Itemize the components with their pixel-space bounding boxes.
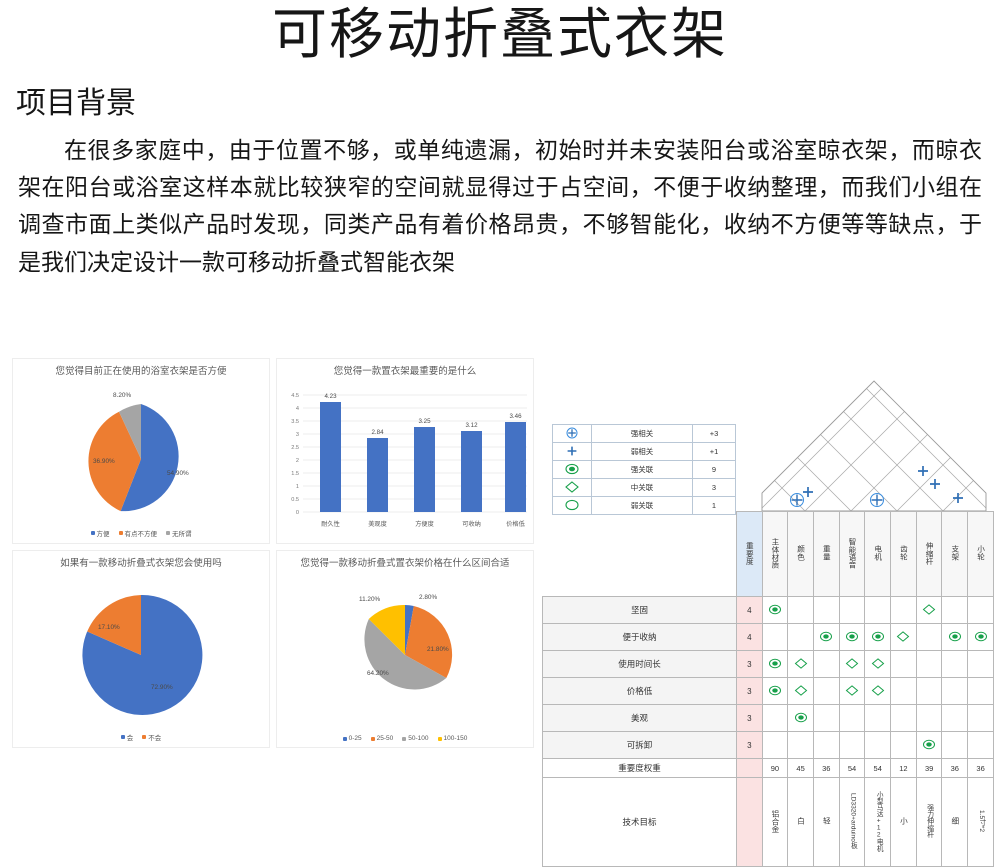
qfd-legend-table: 强相关 +3 弱相关 +1 强关联 9 中关联 3 — [552, 424, 736, 515]
qfd-weight-spacer — [737, 759, 763, 778]
qfd-cell — [762, 597, 788, 624]
bar-value: 3.25 — [418, 418, 431, 425]
qfd-cell — [968, 732, 994, 759]
target-label: 白 — [797, 817, 805, 825]
legend-label: 50-100 — [408, 735, 428, 742]
legend-label: 25-50 — [377, 735, 394, 742]
qfd-cell — [968, 705, 994, 732]
qfd-weight: 12 — [891, 759, 917, 778]
bar — [320, 402, 341, 512]
qfd-cell — [942, 705, 968, 732]
legend-row: 弱相关 +1 — [553, 443, 736, 461]
qfd-target: 轻 — [813, 778, 839, 867]
qfd-row-importance: 4 — [737, 624, 763, 651]
roof-mark-plus — [953, 493, 963, 503]
x-tick: 美观度 — [368, 520, 387, 528]
qfd-row-label: 可拆卸 — [543, 732, 737, 759]
y-tick: 1.5 — [291, 471, 299, 477]
y-tick: 4.5 — [291, 393, 299, 399]
table-row: 使用时间长 3 — [543, 651, 994, 678]
qfd-cell — [942, 624, 968, 651]
qfd-row-label: 美观 — [543, 705, 737, 732]
qfd-cell — [865, 732, 891, 759]
target-label: 小 — [899, 817, 907, 825]
qfd-cell — [813, 705, 839, 732]
page-title: 可移动折叠式衣架 — [0, 6, 1000, 64]
y-tick: 1 — [296, 484, 299, 490]
qfd-cell — [788, 624, 814, 651]
target-label: 轻 — [822, 817, 830, 825]
qfd-weight: 36 — [968, 759, 994, 778]
qfd-cell — [968, 678, 994, 705]
qfd-target: 小型马达+12电机 — [865, 778, 891, 867]
pie-label: 54.90% — [167, 470, 189, 477]
qfd-cell — [968, 624, 994, 651]
roof-mark-plus — [918, 466, 928, 476]
pie-label: 36.90% — [93, 458, 115, 465]
chart-title: 您觉得一款移动折叠式置衣架价格在什么区间合适 — [277, 551, 533, 571]
qfd-cell — [788, 732, 814, 759]
bar-value: 2.84 — [371, 429, 384, 436]
qfd-cell — [813, 651, 839, 678]
legend-label: 无所谓 — [172, 528, 192, 538]
pie-chart-4: 2.80% 21.80% 64.20% 11.20% — [277, 589, 533, 727]
qfd-col-header: 智能语音 — [839, 512, 865, 597]
qfd-cell — [891, 732, 917, 759]
qfd-row-importance: 3 — [737, 651, 763, 678]
qfd-row-label: 使用时间长 — [543, 651, 737, 678]
qfd-target: 小 — [891, 778, 917, 867]
qfd-row-label: 重要度权重 — [543, 759, 737, 778]
qfd-col-importance: 重要度 — [737, 512, 763, 597]
bar-value: 3.12 — [465, 422, 478, 429]
chart-title: 如果有一款移动折叠式衣架您会使用吗 — [13, 551, 269, 571]
bar — [505, 422, 526, 512]
legend-value: 9 — [693, 461, 736, 479]
qfd-row-importance: 3 — [737, 732, 763, 759]
qfd-cell — [865, 597, 891, 624]
qfd-cell — [865, 678, 891, 705]
qfd-header-row: 重要度 主体材质 颜色 重量 智能语音 电机 齿轮 伸缩杆 支架 小轮 — [543, 512, 994, 597]
y-tick: 0.5 — [291, 497, 299, 503]
qfd-col-header: 主体材质 — [762, 512, 788, 597]
qfd-cell — [762, 651, 788, 678]
col-label: 齿轮 — [899, 545, 907, 560]
target-label: LD3320+arduino板 — [849, 793, 856, 849]
qfd-row-importance: 3 — [737, 705, 763, 732]
legend-label: 强关联 — [592, 461, 693, 479]
table-row: 价格低 3 — [543, 678, 994, 705]
background-paragraph: 在很多家庭中，由于位置不够，或单纯遗漏，初始时并未安装阳台或浴室晾衣架，而晾衣架… — [18, 132, 982, 281]
chart-legend: 0-25 25-50 50-100 100-150 — [277, 735, 533, 742]
col-label: 小轮 — [977, 545, 985, 560]
legend-label: 不会 — [148, 732, 161, 742]
roof-mark-plus — [803, 487, 813, 497]
qfd-cell — [916, 732, 942, 759]
x-tick: 价格低 — [506, 520, 525, 528]
legend-value: +3 — [693, 425, 736, 443]
pie-label: 8.20% — [113, 392, 131, 399]
y-tick: 2.5 — [291, 445, 299, 451]
qfd-weight: 39 — [916, 759, 942, 778]
table-row: 便于收纳 4 — [543, 624, 994, 651]
qfd-cell — [839, 678, 865, 705]
qfd-target-row: 技术目标 铝合金 白 轻 LD3320+arduino板 小型马达+12电机 小… — [543, 778, 994, 867]
legend-label: 会 — [127, 732, 134, 742]
table-row: 可拆卸 3 — [543, 732, 994, 759]
qfd-cell — [813, 732, 839, 759]
filled-circle-icon — [553, 461, 592, 479]
roof-mark-circle-plus — [791, 494, 804, 507]
chart-title: 您觉得一款置衣架最重要的是什么 — [277, 359, 533, 379]
qfd-target: LD3320+arduino板 — [839, 778, 865, 867]
qfd-cell — [788, 597, 814, 624]
qfd-cell — [916, 624, 942, 651]
y-tick: 4 — [296, 406, 299, 412]
y-tick: 0 — [296, 510, 299, 516]
qfd-weight: 54 — [839, 759, 865, 778]
qfd-cell — [839, 597, 865, 624]
chart-title: 您觉得目前正在使用的浴室衣架是否方便 — [13, 359, 269, 379]
target-label: 1.5寸*2 — [977, 810, 984, 832]
qfd-col-header: 齿轮 — [891, 512, 917, 597]
x-tick: 耐久性 — [321, 520, 340, 528]
pie-label: 72.90% — [151, 684, 173, 691]
qfd-cell — [865, 624, 891, 651]
qfd-row-label: 便于收纳 — [543, 624, 737, 651]
bar-chart: 4.5 4 3.5 3 2.5 2 1.5 1 0.5 0 4.23 2.84 … — [277, 383, 529, 539]
chart-legend: 方便 有点不方便 无所谓 — [13, 528, 269, 538]
qfd-cell — [891, 624, 917, 651]
qfd-cell — [839, 705, 865, 732]
qfd-col-header: 伸缩杆 — [916, 512, 942, 597]
pie-chart-3: 72.90% 17.10% — [13, 577, 269, 727]
col-label: 智能语音 — [848, 538, 856, 568]
qfd-cell — [839, 732, 865, 759]
qfd-weight-row: 重要度权重 90 45 36 54 54 12 39 36 36 — [543, 759, 994, 778]
qfd-cell — [762, 705, 788, 732]
bar — [367, 438, 388, 512]
qfd-cell — [813, 624, 839, 651]
qfd-target-spacer — [737, 778, 763, 867]
qfd-cell — [968, 597, 994, 624]
qfd-cell — [916, 597, 942, 624]
qfd-row-importance: 4 — [737, 597, 763, 624]
table-row: 坚固 4 — [543, 597, 994, 624]
qfd-cell — [891, 705, 917, 732]
qfd-roof — [759, 378, 989, 517]
qfd-matrix: 重要度 主体材质 颜色 重量 智能语音 电机 齿轮 伸缩杆 支架 小轮 坚固 4 — [542, 511, 994, 867]
qfd-weight: 45 — [788, 759, 814, 778]
pie-chart-1: 54.90% 36.90% 8.20% — [13, 385, 269, 523]
qfd-col-header: 重量 — [813, 512, 839, 597]
qfd-weight: 90 — [762, 759, 788, 778]
legend-label: 弱相关 — [592, 443, 693, 461]
qfd-house-of-quality: 强相关 +3 弱相关 +1 强关联 9 中关联 3 — [538, 378, 994, 750]
legend-row: 强关联 9 — [553, 461, 736, 479]
legend-value: 3 — [693, 479, 736, 497]
qfd-cell — [762, 624, 788, 651]
legend-label: 方便 — [97, 528, 110, 538]
legend-label: 0-25 — [349, 735, 362, 742]
legend-row: 中关联 3 — [553, 479, 736, 497]
qfd-col-header: 电机 — [865, 512, 891, 597]
legend-label: 有点不方便 — [125, 528, 158, 538]
qfd-row-label: 坚固 — [543, 597, 737, 624]
pie-label: 11.20% — [359, 596, 381, 603]
qfd-cell — [762, 678, 788, 705]
pie-label: 2.80% — [419, 594, 437, 601]
qfd-cell — [813, 597, 839, 624]
col-label: 主体材质 — [771, 538, 779, 568]
qfd-cell — [942, 678, 968, 705]
qfd-col-header: 支架 — [942, 512, 968, 597]
target-label: 强力伸缩杆 — [926, 804, 933, 838]
chart-card-would-you-use: 如果有一款移动折叠式衣架您会使用吗 72.90% 17.10% 会 不会 — [12, 550, 270, 748]
qfd-cell — [891, 651, 917, 678]
plus-icon — [553, 443, 592, 461]
spacer — [543, 512, 737, 597]
qfd-cell — [788, 651, 814, 678]
target-label: 铝合金 — [771, 810, 779, 833]
chart-card-price-range: 您觉得一款移动折叠式置衣架价格在什么区间合适 2.80% 21.80% 64.2… — [276, 550, 534, 748]
qfd-col-header: 小轮 — [968, 512, 994, 597]
chart-card-most-important: 您觉得一款置衣架最重要的是什么 4.5 4 — [276, 358, 534, 544]
legend-label: 100-150 — [444, 735, 468, 742]
qfd-cell — [788, 705, 814, 732]
qfd-weight: 36 — [813, 759, 839, 778]
y-tick: 3 — [296, 432, 299, 438]
target-label: 细 — [951, 817, 959, 825]
qfd-cell — [916, 651, 942, 678]
col-label: 重量 — [822, 545, 830, 560]
col-label: 支架 — [951, 545, 959, 560]
qfd-cell — [968, 651, 994, 678]
x-tick: 可收纳 — [462, 520, 481, 528]
qfd-cell — [891, 597, 917, 624]
qfd-cell — [865, 705, 891, 732]
table-row: 美观 3 — [543, 705, 994, 732]
qfd-weight: 54 — [865, 759, 891, 778]
bar-value: 3.46 — [509, 413, 522, 420]
qfd-cell — [916, 705, 942, 732]
bar — [414, 427, 435, 512]
chart-card-bathroom-convenience: 您觉得目前正在使用的浴室衣架是否方便 54.90% 36.90% 8.20% 方… — [12, 358, 270, 544]
qfd-target: 细 — [942, 778, 968, 867]
x-tick: 方便度 — [415, 520, 434, 528]
qfd-target: 白 — [788, 778, 814, 867]
diamond-icon — [553, 479, 592, 497]
col-label: 电机 — [874, 545, 882, 560]
qfd-cell — [865, 651, 891, 678]
pie-label: 17.10% — [98, 624, 120, 631]
col-label: 颜色 — [797, 545, 805, 560]
target-label: 小型马达+12电机 — [874, 791, 881, 852]
qfd-cell — [916, 678, 942, 705]
qfd-row-label: 技术目标 — [543, 778, 737, 867]
qfd-cell — [813, 678, 839, 705]
chart-legend: 会 不会 — [13, 732, 269, 742]
col-label: 重要度 — [745, 542, 753, 565]
y-tick: 2 — [296, 458, 299, 464]
circle-plus-icon — [553, 425, 592, 443]
roof-mark-plus — [930, 479, 940, 489]
pie-label: 21.80% — [427, 646, 449, 653]
qfd-cell — [891, 678, 917, 705]
bar — [461, 431, 482, 512]
qfd-row-label: 价格低 — [543, 678, 737, 705]
charts-panel: 您觉得目前正在使用的浴室衣架是否方便 54.90% 36.90% 8.20% 方… — [12, 358, 534, 750]
section-heading: 项目背景 — [16, 78, 1000, 122]
roof-mark-circle-plus — [871, 494, 884, 507]
qfd-cell — [942, 597, 968, 624]
qfd-target: 铝合金 — [762, 778, 788, 867]
qfd-cell — [942, 651, 968, 678]
qfd-cell — [762, 732, 788, 759]
legend-value: +1 — [693, 443, 736, 461]
qfd-row-importance: 3 — [737, 678, 763, 705]
qfd-cell — [839, 651, 865, 678]
legend-label: 强相关 — [592, 425, 693, 443]
bar-value: 4.23 — [324, 393, 337, 400]
legend-row: 强相关 +3 — [553, 425, 736, 443]
legend-label: 中关联 — [592, 479, 693, 497]
qfd-cell — [839, 624, 865, 651]
qfd-weight: 36 — [942, 759, 968, 778]
qfd-col-header: 颜色 — [788, 512, 814, 597]
pie-label: 64.20% — [367, 670, 389, 677]
qfd-target: 1.5寸*2 — [968, 778, 994, 867]
qfd-cell — [788, 678, 814, 705]
col-label: 伸缩杆 — [925, 542, 933, 565]
qfd-target: 强力伸缩杆 — [916, 778, 942, 867]
y-tick: 3.5 — [291, 419, 299, 425]
qfd-cell — [942, 732, 968, 759]
